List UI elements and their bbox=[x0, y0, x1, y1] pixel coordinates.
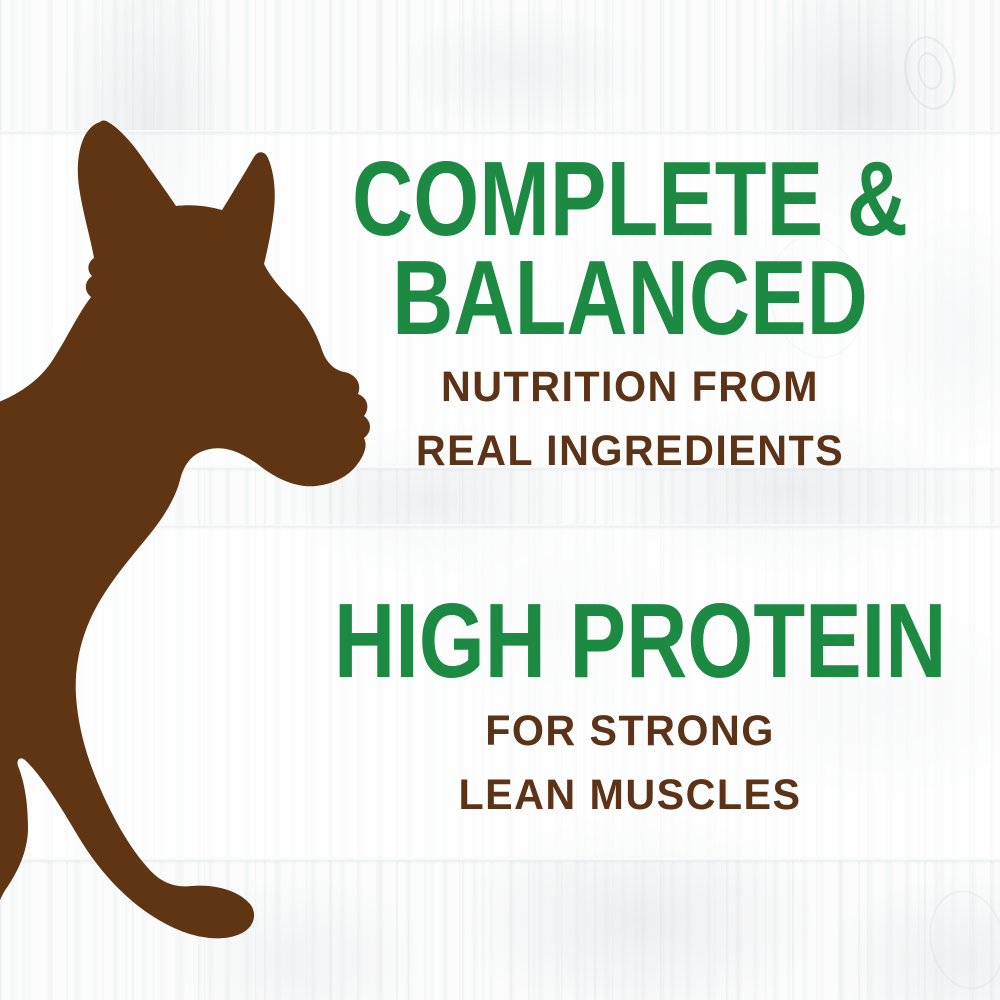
claim-headline-line-2: BALANCED bbox=[334, 249, 926, 348]
claim-subtext-line-2: REAL INGREDIENTS bbox=[275, 427, 985, 475]
claim-complete-balanced: COMPLETE & BALANCED NUTRITION FROM REAL … bbox=[260, 150, 1000, 475]
claim-headline-line-1: COMPLETE & bbox=[334, 150, 926, 249]
claim-headline-line-1: HIGH PROTEIN bbox=[334, 592, 926, 691]
claim-subtext-line-1: NUTRITION FROM bbox=[275, 363, 985, 411]
claim-subtext-line-2: LEAN MUSCLES bbox=[275, 771, 985, 819]
claim-high-protein: HIGH PROTEIN FOR STRONG LEAN MUSCLES bbox=[260, 592, 1000, 819]
claim-subtext-line-1: FOR STRONG bbox=[275, 707, 985, 755]
marketing-panel: COMPLETE & BALANCED NUTRITION FROM REAL … bbox=[0, 0, 1000, 1000]
